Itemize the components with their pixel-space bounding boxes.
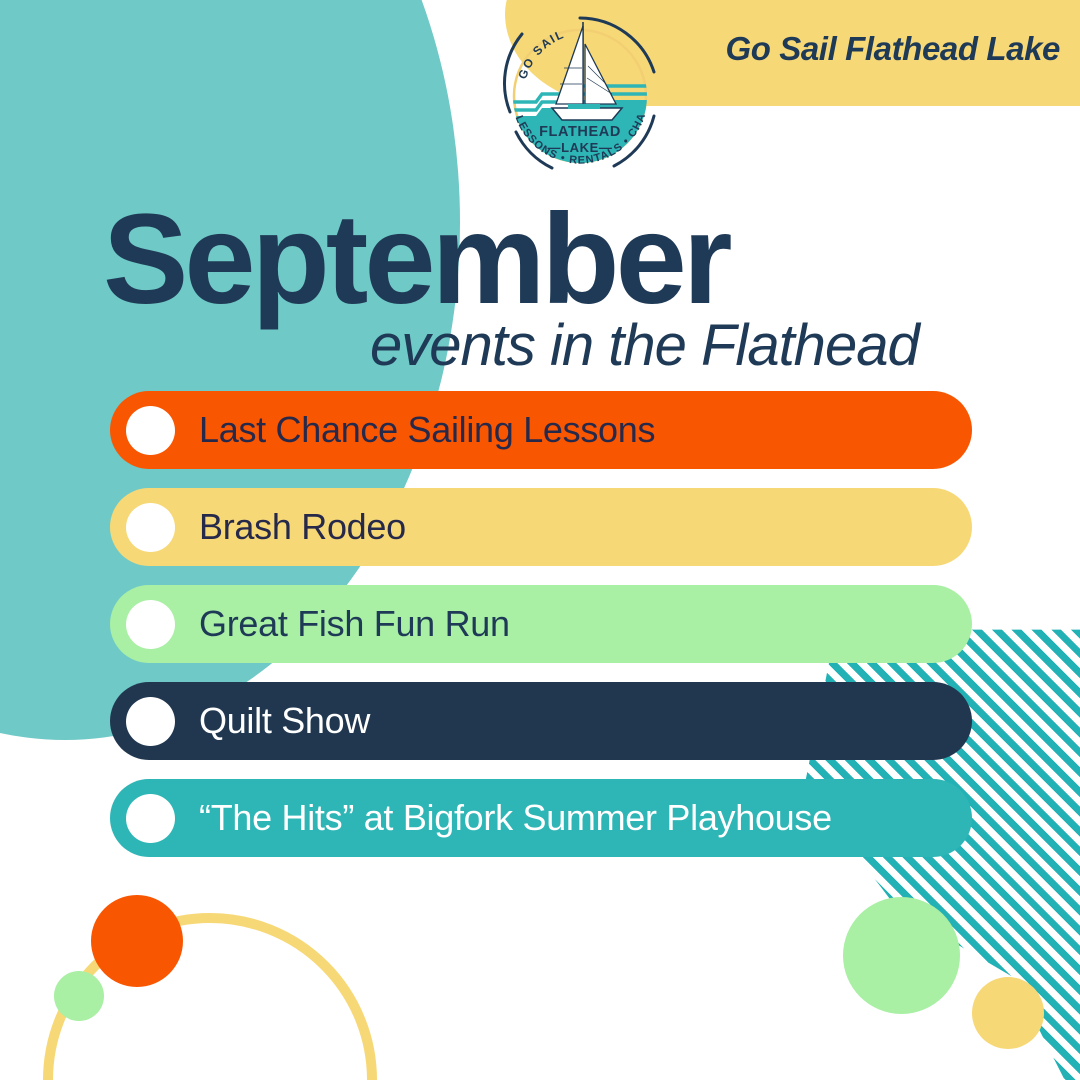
poster-canvas: GO SAIL FLATHEAD —LAKE— LESSONS • RENTAL… bbox=[0, 0, 1080, 1080]
bullet-circle-icon bbox=[126, 600, 175, 649]
events-list: Last Chance Sailing Lessons Brash Rodeo … bbox=[110, 391, 972, 876]
event-pill[interactable]: Great Fish Fun Run bbox=[110, 585, 972, 663]
event-label: “The Hits” at Bigfork Summer Playhouse bbox=[199, 797, 832, 839]
bullet-circle-icon bbox=[126, 503, 175, 552]
event-label: Last Chance Sailing Lessons bbox=[199, 409, 655, 451]
event-pill[interactable]: “The Hits” at Bigfork Summer Playhouse bbox=[110, 779, 972, 857]
green-large-dot-decoration bbox=[843, 897, 960, 1014]
brand-title: Go Sail Flathead Lake bbox=[660, 30, 1060, 68]
page-subtitle: events in the Flathead bbox=[370, 312, 919, 379]
orange-dot-decoration bbox=[91, 895, 183, 987]
bullet-circle-icon bbox=[126, 697, 175, 746]
bullet-circle-icon bbox=[126, 406, 175, 455]
event-pill[interactable]: Last Chance Sailing Lessons bbox=[110, 391, 972, 469]
event-pill[interactable]: Brash Rodeo bbox=[110, 488, 972, 566]
event-label: Quilt Show bbox=[199, 700, 370, 742]
green-small-dot-decoration bbox=[54, 971, 104, 1021]
logo-center-line1: FLATHEAD bbox=[539, 124, 621, 140]
go-sail-flathead-lake-logo: GO SAIL FLATHEAD —LAKE— LESSONS • RENTAL… bbox=[494, 8, 666, 180]
yellow-dot-decoration bbox=[972, 977, 1044, 1049]
bullet-circle-icon bbox=[126, 794, 175, 843]
event-label: Great Fish Fun Run bbox=[199, 603, 510, 645]
page-title-month: September bbox=[103, 196, 729, 324]
event-pill[interactable]: Quilt Show bbox=[110, 682, 972, 760]
event-label: Brash Rodeo bbox=[199, 506, 406, 548]
